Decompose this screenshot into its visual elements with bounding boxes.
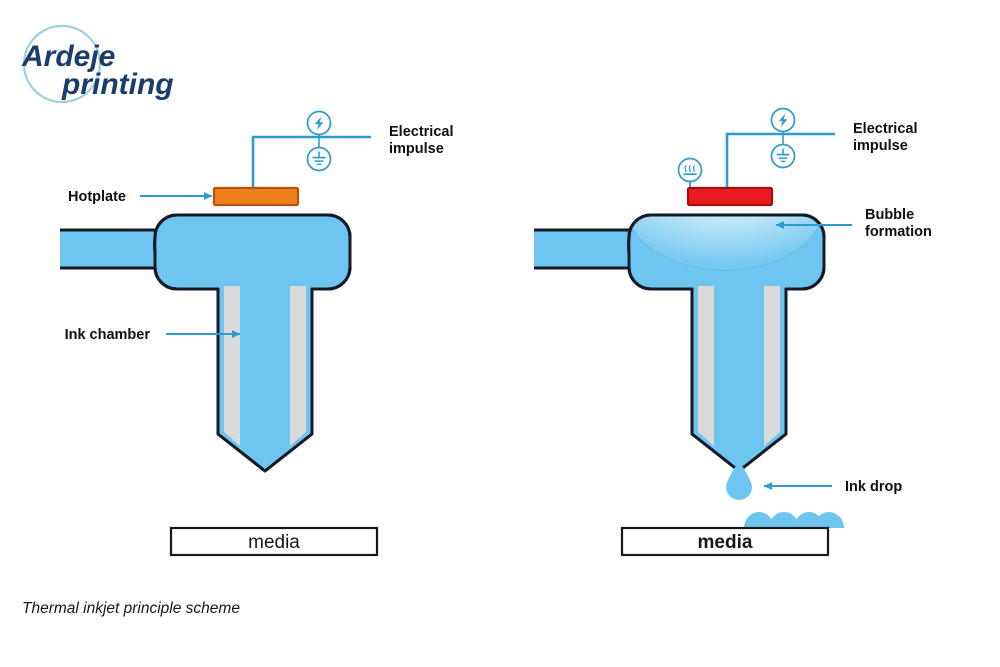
ink-column-left [240,289,290,468]
nozzle-wall-left-inner [224,286,240,446]
diagram-canvas: Ardeje printing [0,0,1000,667]
ground-icon [308,148,331,171]
nozzle-wall-right-inner [764,286,780,446]
lightning-bolt-icon [308,112,331,135]
svg-text:Ink drop: Ink drop [845,479,902,495]
logo-line2: printing [61,68,174,101]
svg-text:Hotplate: Hotplate [68,189,126,205]
thermal-inkjet-scheme: Ardeje printing [0,0,1000,667]
svg-text:impulse: impulse [389,141,444,157]
svg-text:impulse: impulse [853,138,908,154]
svg-text:Bubble: Bubble [865,207,914,223]
bubble-formation [627,146,823,270]
nozzle-wall-right-inner [290,286,306,446]
label-ink-drop: Ink drop [764,479,902,495]
ink-drop [726,461,752,500]
svg-text:formation: formation [865,224,932,240]
media-substrate-left: media [171,528,377,555]
ink-chamber-right [534,146,824,471]
hotplate-hot [688,188,772,205]
figure-caption: Thermal inkjet principle scheme [22,600,240,617]
label-hotplate: Hotplate [68,189,212,205]
hotplate-cold [214,188,298,205]
label-ink-chamber: Ink chamber [65,327,240,343]
ink-chamber-left [60,215,350,471]
deposited-ink-drops [744,512,844,528]
lightning-bolt-icon [772,109,795,132]
ardeje-printing-logo[interactable]: Ardeje printing [21,26,174,102]
right-diagram: Electrical impulse [534,109,932,556]
left-diagram: Electrical impulse Hotplate [60,112,454,556]
svg-text:Electrical: Electrical [853,121,918,137]
media-label-left: media [248,532,300,553]
ground-icon [772,145,795,168]
svg-text:Electrical: Electrical [389,124,454,140]
svg-text:Ink chamber: Ink chamber [65,327,151,343]
deposited-drop [814,512,844,528]
ink-column-right [714,289,764,468]
label-electrical-impulse: Electrical impulse [389,124,454,157]
label-electrical-impulse: Electrical impulse [853,121,918,154]
media-substrate-right: media [622,528,828,555]
media-label-right: media [698,532,753,553]
nozzle-wall-left-inner [698,286,714,446]
